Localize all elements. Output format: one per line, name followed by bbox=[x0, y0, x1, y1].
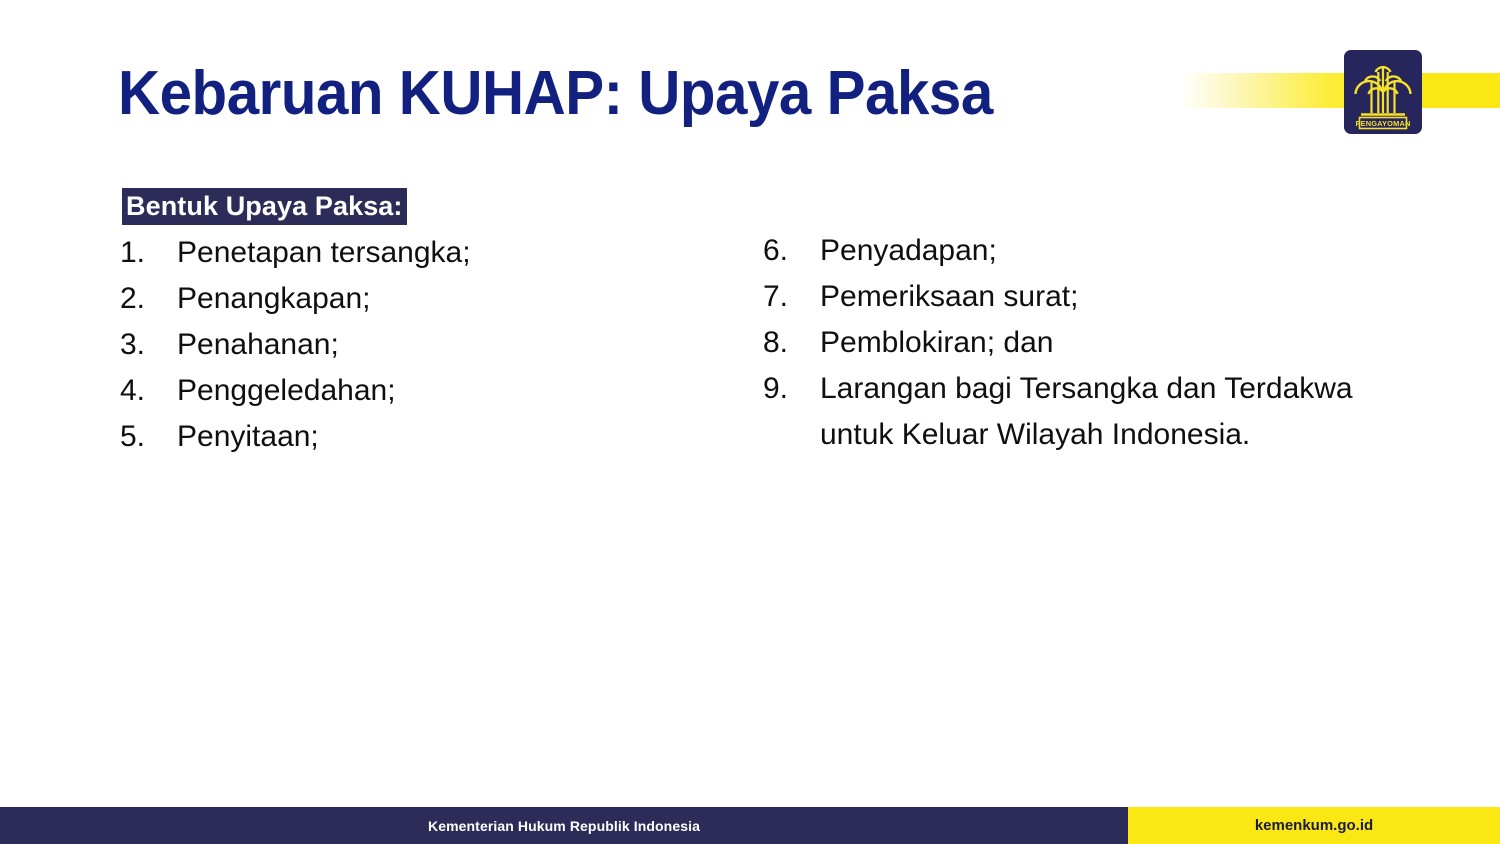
list-item-number: 8. bbox=[763, 320, 820, 366]
page-title: Kebaruan KUHAP: Upaya Paksa bbox=[118, 60, 1058, 128]
list-item-label: Larangan bagi Tersangka dan Terdakwa unt… bbox=[820, 366, 1383, 458]
list-item-number: 3. bbox=[120, 322, 177, 368]
list-left-column: 1. Penetapan tersangka; 2. Penangkapan; … bbox=[120, 230, 720, 460]
logo-caption: PENGAYOMAN bbox=[1355, 119, 1410, 128]
list-item: 8. Pemblokiran; dan bbox=[763, 320, 1383, 366]
list-item: 4. Penggeledahan; bbox=[120, 368, 720, 414]
list-item-number: 2. bbox=[120, 276, 177, 322]
list-item-label: Penangkapan; bbox=[177, 276, 720, 322]
list-item: 7. Pemeriksaan surat; bbox=[763, 274, 1383, 320]
list-item-label: Penahanan; bbox=[177, 322, 720, 368]
list-item-number: 1. bbox=[120, 230, 177, 276]
pengayoman-tree-emblem-icon: PENGAYOMAN bbox=[1344, 50, 1422, 134]
list-item-label: Penyitaan; bbox=[177, 414, 720, 460]
list-item-label: Penyadapan; bbox=[820, 228, 1383, 274]
list-item: 6. Penyadapan; bbox=[763, 228, 1383, 274]
subtitle-highlight: Bentuk Upaya Paksa: bbox=[122, 188, 407, 225]
list-item: 5. Penyitaan; bbox=[120, 414, 720, 460]
list-item-label: Penggeledahan; bbox=[177, 368, 720, 414]
subtitle-container: Bentuk Upaya Paksa: bbox=[122, 188, 407, 225]
footer-organization: Kementerian Hukum Republik Indonesia bbox=[0, 807, 1128, 844]
pengayoman-logo: PENGAYOMAN bbox=[1344, 50, 1422, 134]
list-item: 1. Penetapan tersangka; bbox=[120, 230, 720, 276]
list-item-label: Pemeriksaan surat; bbox=[820, 274, 1383, 320]
list-item-number: 6. bbox=[763, 228, 820, 274]
list-item-label: Pemblokiran; dan bbox=[820, 320, 1383, 366]
footer-bar: Kementerian Hukum Republik Indonesia kem… bbox=[0, 807, 1500, 844]
list-item-number: 9. bbox=[763, 366, 820, 412]
list-right-column: 6. Penyadapan; 7. Pemeriksaan surat; 8. … bbox=[763, 228, 1383, 458]
list-item-number: 7. bbox=[763, 274, 820, 320]
list-item-number: 5. bbox=[120, 414, 177, 460]
footer-website[interactable]: kemenkum.go.id bbox=[1128, 807, 1500, 844]
slide-canvas: PENGAYOMAN Kebaruan KUHAP: Upaya Paksa B… bbox=[0, 0, 1500, 844]
header-yellow-accent-bar bbox=[1180, 73, 1500, 108]
list-item: 9. Larangan bagi Tersangka dan Terdakwa … bbox=[763, 366, 1383, 458]
list-item: 3. Penahanan; bbox=[120, 322, 720, 368]
list-item-label: Penetapan tersangka; bbox=[177, 230, 720, 276]
list-item: 2. Penangkapan; bbox=[120, 276, 720, 322]
list-item-number: 4. bbox=[120, 368, 177, 414]
